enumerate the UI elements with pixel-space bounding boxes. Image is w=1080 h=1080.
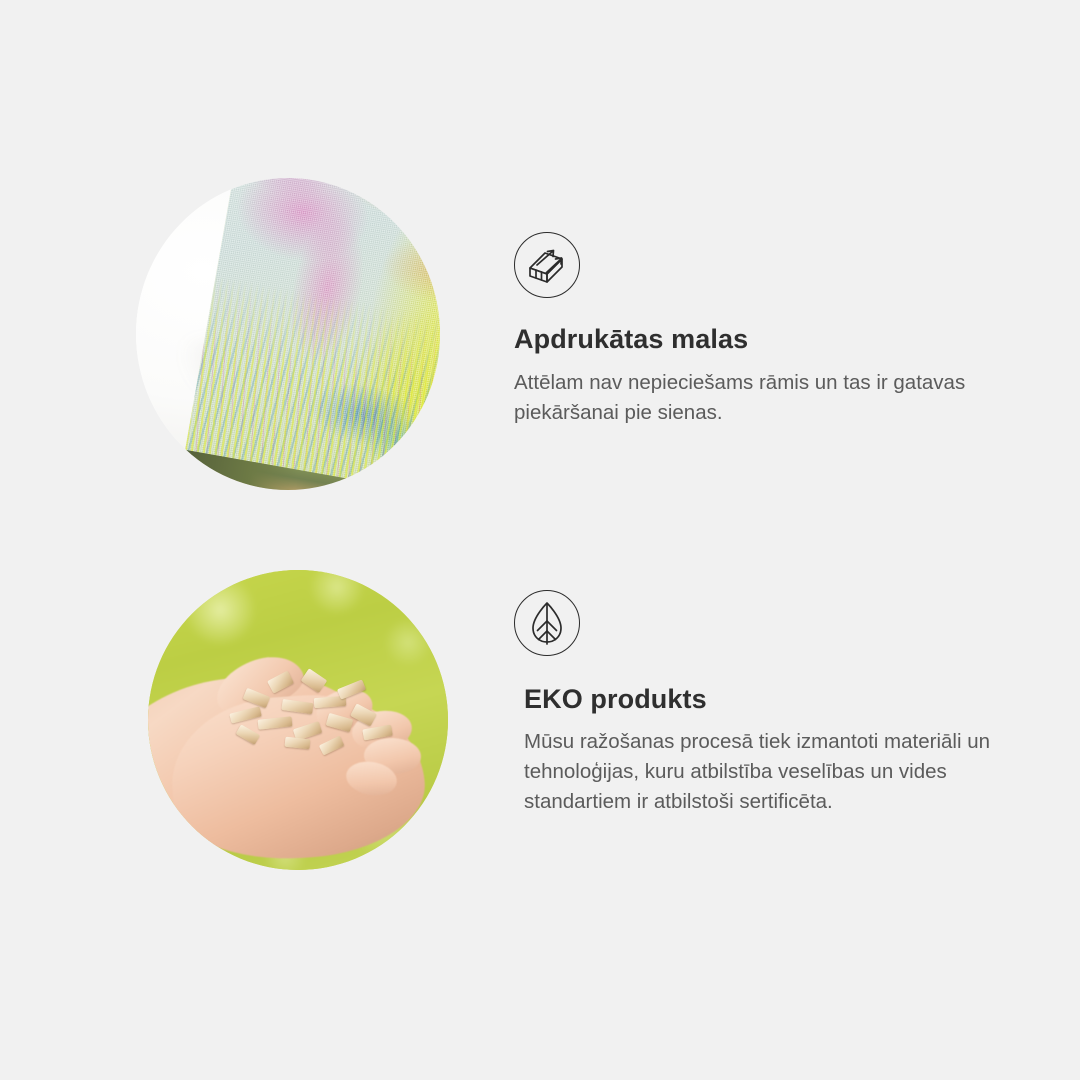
feature-title-eco-product: EKO produkts (524, 684, 707, 715)
hands-holding-wood-chips-photo (148, 570, 448, 870)
product-features-page: Apdrukātas malas Attēlam nav nepieciešam… (0, 0, 1080, 1080)
leaf-icon (514, 590, 580, 656)
feature-description-printed-edges: Attēlam nav nepieciešams rāmis un tas ir… (514, 368, 1019, 428)
canvas-wrapped-edge-icon (514, 232, 580, 298)
canvas-corner-on-wall-photo (136, 178, 440, 490)
feature-title-printed-edges: Apdrukātas malas (514, 324, 748, 355)
feature-description-eco-product: Mūsu ražošanas procesā tiek izmantoti ma… (524, 727, 1029, 817)
wood-chips-pile (226, 660, 406, 768)
